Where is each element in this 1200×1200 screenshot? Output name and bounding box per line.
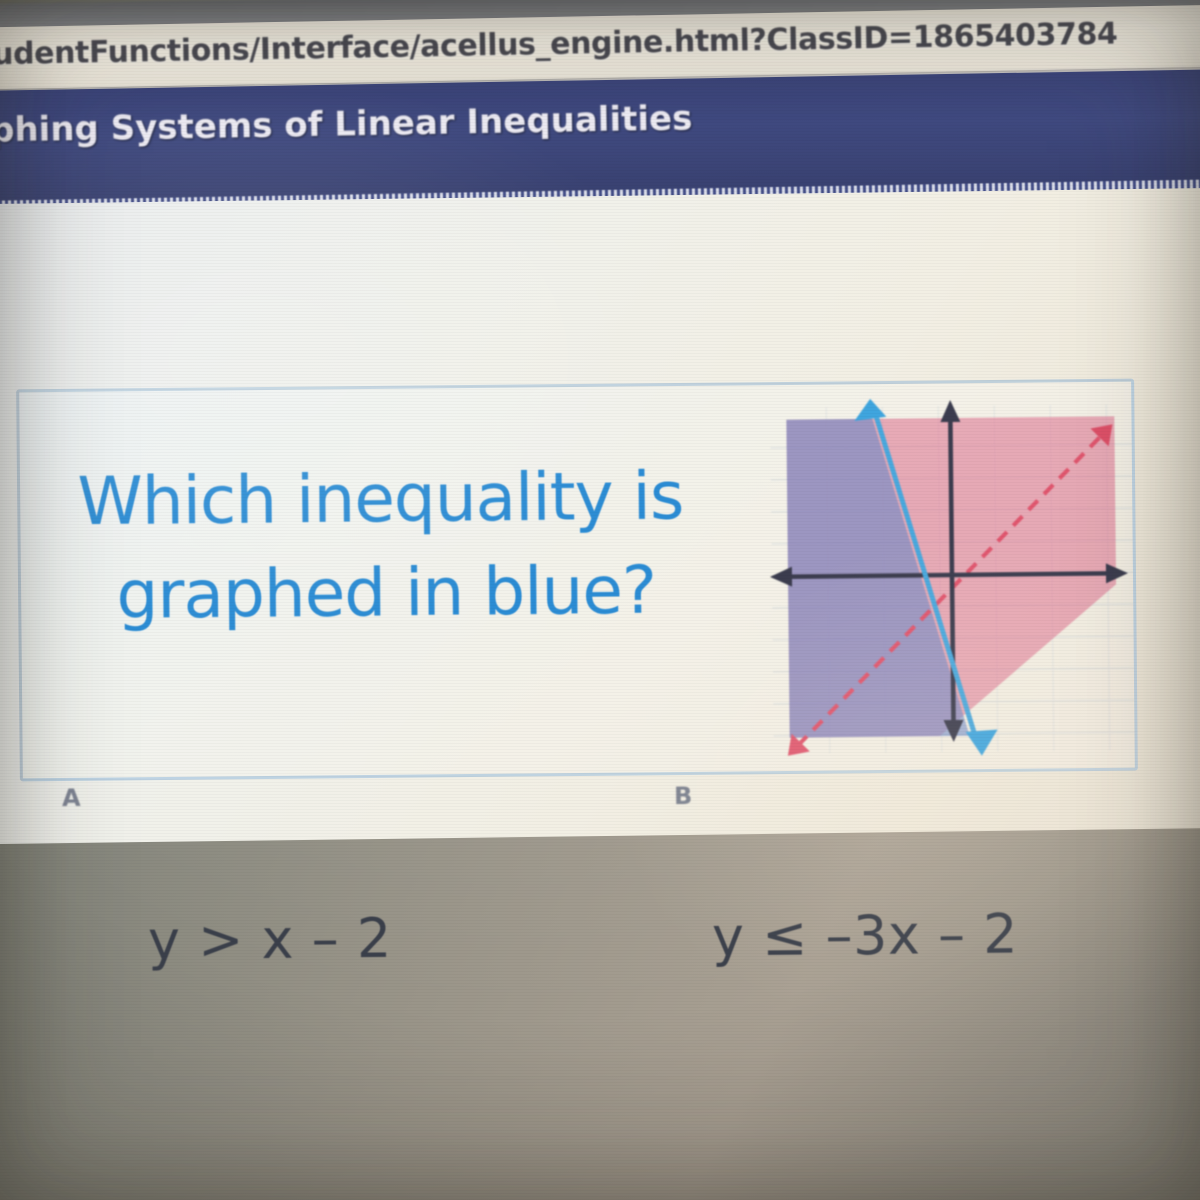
graph-svg <box>760 384 1144 770</box>
choice-a-letter: A <box>62 784 81 812</box>
question-prompt: Which inequality is graphed in blue? <box>77 449 739 643</box>
y-axis-arrow-up <box>940 400 960 422</box>
choice-b-letter: B <box>674 782 693 810</box>
choice-a-text[interactable]: y > x – 2 <box>148 907 392 972</box>
question-line-1: Which inequality is <box>77 449 738 549</box>
blue-arrowhead-upper-left <box>854 399 886 421</box>
x-axis-arrow-left <box>770 567 792 587</box>
inequality-graph-figure <box>760 384 1144 770</box>
choice-b-text[interactable]: y ≤ –3x – 2 <box>712 903 1019 969</box>
question-line-2: graphed in blue? <box>116 543 739 643</box>
blue-arrowhead-lower-right <box>966 730 998 756</box>
x-axis-arrow-right <box>1106 563 1128 583</box>
monitor-photo: udentFunctions/Interface/acellus_engine.… <box>0 0 1200 1200</box>
